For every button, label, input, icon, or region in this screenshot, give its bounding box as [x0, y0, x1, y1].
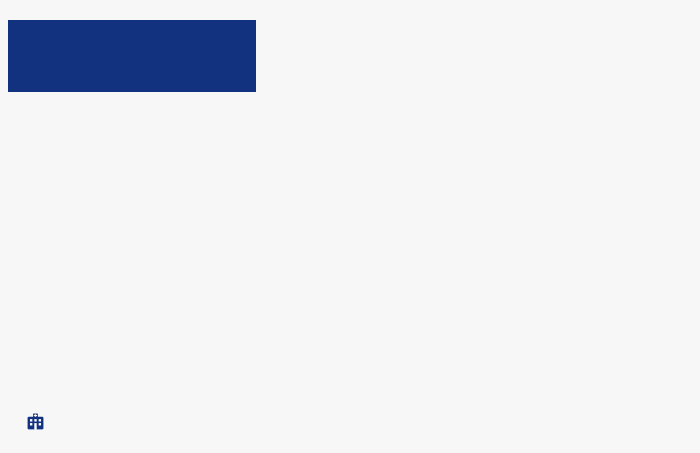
title-banner: [8, 20, 256, 92]
footer-logo: [26, 412, 51, 431]
hospital-building-icon: [26, 412, 45, 431]
org-chart-canvas: [0, 0, 700, 453]
